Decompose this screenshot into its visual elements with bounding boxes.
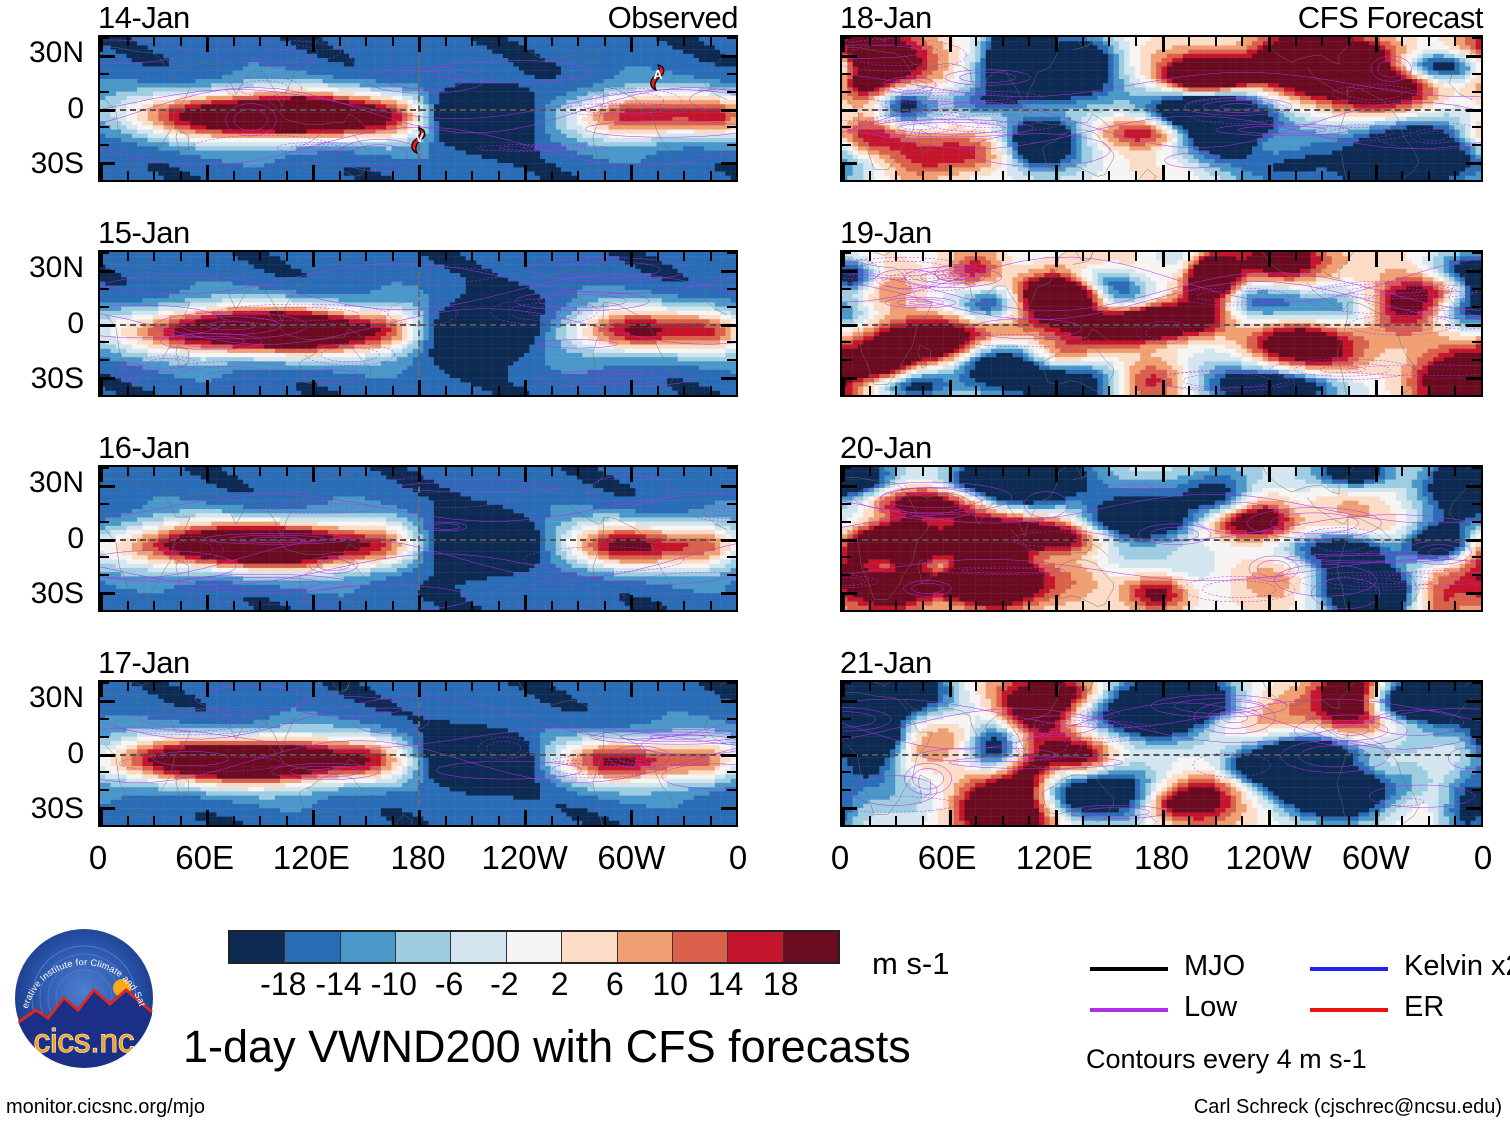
axis-tick — [1268, 595, 1271, 610]
axis-tick — [727, 556, 736, 558]
axis-tick — [604, 37, 606, 46]
colorbar-tick-label: 6 — [606, 968, 624, 1000]
axis-tick — [312, 810, 315, 825]
axis-tick — [1454, 601, 1456, 610]
axis-tick — [657, 252, 659, 261]
axis-tick — [922, 682, 924, 691]
axis-tick — [1401, 467, 1403, 476]
axis-tick — [1108, 682, 1110, 691]
map-canvas[interactable] — [840, 465, 1483, 612]
axis-tick — [524, 595, 527, 610]
axis-tick — [630, 810, 633, 825]
y-axis-label: 0 — [0, 739, 84, 769]
axis-tick — [1472, 288, 1481, 290]
axis-tick — [100, 126, 109, 128]
axis-tick — [1454, 37, 1456, 46]
x-axis-label: 0 — [729, 841, 747, 874]
axis-tick — [392, 37, 394, 46]
axis-tick — [1466, 109, 1481, 112]
x-axis-label: 0 — [831, 841, 849, 874]
equator-line — [842, 324, 1481, 326]
x-axis-label: 60W — [1342, 841, 1410, 874]
axis-tick — [1268, 165, 1271, 180]
axis-tick — [1472, 771, 1481, 773]
axis-tick — [1135, 682, 1137, 691]
axis-tick — [498, 601, 500, 610]
axis-tick — [1295, 386, 1297, 395]
axis-tick — [1401, 171, 1403, 180]
axis-tick — [1348, 601, 1350, 610]
axis-tick — [259, 252, 261, 261]
axis-tick — [339, 171, 341, 180]
axis-tick — [233, 816, 235, 825]
colorbar-swatch — [618, 932, 673, 962]
axis-tick — [1082, 252, 1084, 261]
axis-tick — [842, 341, 851, 343]
x-axis-label: 120E — [1016, 841, 1093, 874]
colorbar-tick-label: 2 — [551, 968, 569, 1000]
legend-note: Contours every 4 m s-1 — [1086, 1046, 1367, 1073]
colorbar-tick-label: -6 — [435, 968, 463, 1000]
axis-tick — [842, 700, 857, 703]
axis-tick — [1375, 37, 1378, 52]
axis-tick — [1241, 467, 1243, 476]
axis-tick — [1188, 601, 1190, 610]
axis-tick — [721, 700, 736, 703]
panel-date-label: 20-Jan — [840, 432, 932, 463]
axis-tick — [1321, 252, 1323, 261]
axis-tick — [1321, 171, 1323, 180]
colorbar-swatch — [673, 932, 728, 962]
axis-tick — [1321, 386, 1323, 395]
axis-tick — [418, 467, 421, 482]
axis-tick — [100, 556, 109, 558]
axis-tick — [727, 574, 736, 576]
axis-tick — [1472, 91, 1481, 93]
panel-observed-14-jan: 14-JanObservedAV — [98, 2, 738, 182]
map-canvas[interactable] — [98, 250, 738, 397]
axis-tick — [1268, 467, 1271, 482]
axis-tick — [100, 144, 109, 146]
axis-tick — [842, 736, 851, 738]
axis-tick — [1472, 736, 1481, 738]
axis-tick — [365, 682, 367, 691]
axis-tick — [736, 37, 738, 52]
axis-tick — [1472, 789, 1481, 791]
axis-tick — [869, 386, 871, 395]
y-axis-label: 30S — [0, 364, 84, 394]
axis-tick — [842, 180, 851, 182]
axis-tick — [153, 37, 155, 46]
axis-tick — [727, 73, 736, 75]
axis-tick — [727, 682, 736, 684]
axis-tick — [577, 601, 579, 610]
map-canvas[interactable] — [98, 465, 738, 612]
axis-tick — [1401, 37, 1403, 46]
axis-tick — [1028, 601, 1030, 610]
axis-tick — [975, 252, 977, 261]
axis-tick — [1466, 324, 1481, 327]
tropical-cyclone-marker[interactable]: V — [408, 126, 430, 156]
axis-tick — [1028, 252, 1030, 261]
axis-tick — [524, 467, 527, 482]
axis-tick — [727, 503, 736, 505]
map-canvas[interactable] — [840, 250, 1483, 397]
axis-tick — [604, 601, 606, 610]
axis-tick — [721, 109, 736, 112]
map-canvas[interactable] — [98, 680, 738, 827]
axis-tick — [100, 825, 109, 827]
axis-tick — [1321, 467, 1323, 476]
axis-tick — [498, 37, 500, 46]
y-axis-label: 30S — [0, 794, 84, 824]
axis-tick — [1188, 37, 1190, 46]
axis-tick — [445, 601, 447, 610]
colorbar-swatch — [562, 932, 617, 962]
map-canvas[interactable] — [840, 680, 1483, 827]
axis-tick — [100, 789, 109, 791]
axis-tick — [1466, 270, 1481, 273]
axis-tick — [1481, 165, 1483, 180]
axis-tick — [551, 682, 553, 691]
axis-tick — [286, 467, 288, 476]
axis-tick — [630, 165, 633, 180]
axis-tick — [1241, 816, 1243, 825]
axis-tick — [1466, 377, 1481, 380]
axis-tick — [1428, 37, 1430, 46]
axis-tick — [1472, 718, 1481, 720]
axis-tick — [1375, 467, 1378, 482]
axis-tick — [710, 386, 712, 395]
axis-tick — [1028, 171, 1030, 180]
axis-tick — [736, 165, 738, 180]
axis-tick — [975, 601, 977, 610]
axis-tick — [736, 380, 738, 395]
axis-tick — [1028, 37, 1030, 46]
axis-tick — [365, 467, 367, 476]
axis-tick — [392, 601, 394, 610]
axis-tick — [1135, 467, 1137, 476]
axis-tick — [498, 682, 500, 691]
axis-tick — [1215, 171, 1217, 180]
axis-tick — [100, 485, 115, 488]
axis-tick — [365, 171, 367, 180]
axis-tick — [206, 595, 209, 610]
axis-tick — [100, 162, 115, 165]
axis-tick — [180, 682, 182, 691]
axis-tick — [1002, 386, 1004, 395]
axis-tick — [604, 252, 606, 261]
axis-tick — [100, 91, 109, 93]
axis-tick — [233, 386, 235, 395]
axis-tick — [339, 37, 341, 46]
axis-tick — [392, 467, 394, 476]
axis-tick — [727, 37, 736, 39]
axis-tick — [471, 252, 473, 261]
axis-tick — [683, 601, 685, 610]
axis-tick — [445, 816, 447, 825]
x-axis-label: 120W — [482, 841, 568, 874]
axis-tick — [842, 37, 851, 39]
axis-tick — [312, 37, 315, 52]
axis-tick — [604, 816, 606, 825]
axis-tick — [1295, 467, 1297, 476]
axis-tick — [604, 682, 606, 691]
axis-tick — [100, 306, 109, 308]
axis-tick — [727, 736, 736, 738]
y-axis-label: 30S — [0, 149, 84, 179]
axis-tick — [392, 171, 394, 180]
axis-tick — [127, 171, 129, 180]
axis-tick — [1428, 386, 1430, 395]
axis-tick — [445, 171, 447, 180]
axis-tick — [100, 73, 109, 75]
axis-tick — [100, 270, 115, 273]
axis-tick — [180, 601, 182, 610]
axis-tick — [1401, 386, 1403, 395]
axis-tick — [1135, 37, 1137, 46]
axis-tick — [710, 682, 712, 691]
axis-tick — [657, 171, 659, 180]
axis-tick — [683, 467, 685, 476]
axis-tick — [1188, 467, 1190, 476]
axis-tick — [869, 37, 871, 46]
axis-tick — [1028, 816, 1030, 825]
axis-tick — [842, 306, 851, 308]
y-axis-label: 0 — [0, 94, 84, 124]
cics-nc-logo: Cooperative Institute for Climate and Sa… — [14, 928, 154, 1068]
colorbar-tick-label: 14 — [708, 968, 744, 1000]
axis-tick — [286, 386, 288, 395]
axis-tick — [869, 467, 871, 476]
axis-tick — [1466, 55, 1481, 58]
axis-tick — [842, 467, 851, 469]
axis-tick — [418, 37, 421, 52]
y-axis-label: 30N — [0, 683, 84, 713]
axis-tick — [683, 816, 685, 825]
axis-tick — [922, 386, 924, 395]
x-axis-label: 120E — [273, 841, 350, 874]
axis-tick — [949, 252, 952, 267]
axis-tick — [1321, 37, 1323, 46]
axis-tick — [233, 467, 235, 476]
axis-tick — [657, 816, 659, 825]
axis-tick — [1241, 37, 1243, 46]
axis-tick — [683, 252, 685, 261]
axis-tick — [100, 467, 109, 469]
axis-tick — [1188, 682, 1190, 691]
axis-tick — [100, 810, 103, 825]
axis-tick — [727, 126, 736, 128]
axis-tick — [710, 252, 712, 261]
axis-tick — [100, 467, 103, 482]
axis-tick — [392, 386, 394, 395]
axis-tick — [577, 816, 579, 825]
axis-tick — [630, 682, 633, 697]
axis-tick — [727, 359, 736, 361]
axis-tick — [1108, 386, 1110, 395]
axis-tick — [312, 252, 315, 267]
axis-tick — [842, 789, 851, 791]
axis-tick — [1295, 682, 1297, 691]
legend-swatch-low — [1090, 1008, 1168, 1012]
axis-tick — [100, 807, 115, 810]
axis-tick — [100, 682, 109, 684]
axis-tick — [1472, 341, 1481, 343]
axis-tick — [842, 574, 851, 576]
axis-tick — [153, 816, 155, 825]
footer-url[interactable]: monitor.cicsnc.org/mjo — [6, 1097, 205, 1117]
axis-tick — [180, 467, 182, 476]
axis-tick — [1241, 601, 1243, 610]
axis-tick — [842, 270, 857, 273]
axis-tick — [1162, 682, 1165, 697]
axis-tick — [339, 386, 341, 395]
y-axis-label: 30N — [0, 38, 84, 68]
colorbar-tick-label: -18 — [260, 968, 306, 1000]
axis-tick — [577, 252, 579, 261]
axis-tick — [949, 595, 952, 610]
axis-tick — [949, 165, 952, 180]
axis-tick — [1401, 816, 1403, 825]
axis-tick — [727, 395, 736, 397]
axis-tick — [392, 816, 394, 825]
axis-tick — [577, 171, 579, 180]
axis-tick — [1428, 252, 1430, 261]
legend-label: Kelvin x2 — [1404, 952, 1510, 981]
equator-line — [842, 539, 1481, 541]
axis-tick — [842, 556, 851, 558]
x-axis-label: 0 — [89, 841, 107, 874]
colorbar-swatch — [451, 932, 506, 962]
cyclone-label: A — [647, 68, 669, 81]
axis-tick — [524, 682, 527, 697]
axis-tick — [1454, 467, 1456, 476]
axis-tick — [727, 789, 736, 791]
axis-tick — [1348, 252, 1350, 261]
axis-tick — [727, 825, 736, 827]
axis-tick — [721, 377, 736, 380]
axis-tick — [1002, 467, 1004, 476]
map-canvas[interactable]: AV — [98, 35, 738, 182]
x-axis-label: 120W — [1226, 841, 1312, 874]
axis-tick — [1241, 682, 1243, 691]
map-canvas[interactable] — [840, 35, 1483, 182]
axis-tick — [418, 595, 421, 610]
axis-tick — [1215, 252, 1217, 261]
axis-tick — [339, 467, 341, 476]
axis-tick — [153, 467, 155, 476]
axis-tick — [1215, 386, 1217, 395]
logo-graphic: Cooperative Institute for Climate and Sa… — [14, 928, 154, 1068]
axis-tick — [127, 682, 129, 691]
axis-tick — [842, 109, 857, 112]
axis-tick — [1454, 252, 1456, 261]
axis-tick — [259, 601, 261, 610]
axis-tick — [392, 252, 394, 261]
axis-tick — [100, 539, 115, 542]
axis-tick — [1375, 595, 1378, 610]
axis-tick — [206, 252, 209, 267]
axis-tick — [895, 386, 897, 395]
axis-tick — [100, 252, 109, 254]
axis-tick — [604, 467, 606, 476]
axis-tick — [471, 171, 473, 180]
axis-tick — [524, 380, 527, 395]
column-header-forecast: CFS Forecast — [1298, 2, 1483, 33]
axis-tick — [842, 754, 857, 757]
axis-tick — [975, 171, 977, 180]
axis-tick — [869, 171, 871, 180]
axis-tick — [1428, 816, 1430, 825]
axis-tick — [1375, 165, 1378, 180]
axis-tick — [551, 37, 553, 46]
axis-tick — [1002, 171, 1004, 180]
tropical-cyclone-marker[interactable]: A — [647, 63, 669, 93]
axis-tick — [1472, 252, 1481, 254]
dateline-guide — [418, 682, 420, 825]
axis-tick — [842, 126, 851, 128]
axis-tick — [1295, 601, 1297, 610]
axis-tick — [975, 816, 977, 825]
axis-tick — [721, 592, 736, 595]
axis-tick — [842, 682, 851, 684]
colorbar-tick-label: 10 — [652, 968, 688, 1000]
column-header-observed: Observed — [608, 2, 738, 33]
footer-author[interactable]: Carl Schreck (cjschrec@ncsu.edu) — [1194, 1097, 1502, 1117]
axis-tick — [1348, 37, 1350, 46]
axis-tick — [286, 252, 288, 261]
axis-tick — [842, 37, 845, 52]
axis-tick — [100, 521, 109, 523]
axis-tick — [922, 37, 924, 46]
axis-tick — [842, 718, 851, 720]
axis-tick — [1481, 252, 1483, 267]
axis-tick — [842, 73, 851, 75]
colorbar-swatch — [728, 932, 783, 962]
axis-tick — [1082, 37, 1084, 46]
axis-tick — [721, 55, 736, 58]
axis-tick — [1082, 682, 1084, 691]
panel-forecast-21-jan: 21-Jan — [840, 647, 1483, 827]
axis-tick — [842, 467, 845, 482]
axis-tick — [100, 55, 115, 58]
axis-tick — [721, 485, 736, 488]
axis-tick — [153, 601, 155, 610]
axis-tick — [869, 816, 871, 825]
axis-tick — [1108, 171, 1110, 180]
axis-tick — [286, 171, 288, 180]
axis-tick — [1215, 37, 1217, 46]
axis-tick — [710, 467, 712, 476]
axis-tick — [1472, 180, 1481, 182]
axis-tick — [1002, 682, 1004, 691]
axis-tick — [100, 592, 115, 595]
axis-tick — [683, 682, 685, 691]
axis-tick — [895, 682, 897, 691]
axis-tick — [471, 816, 473, 825]
figure-title: 1-day VWND200 with CFS forecasts — [183, 1024, 911, 1069]
axis-tick — [392, 682, 394, 691]
axis-tick — [471, 467, 473, 476]
axis-tick — [1241, 171, 1243, 180]
axis-tick — [1295, 37, 1297, 46]
axis-tick — [1481, 37, 1483, 52]
axis-tick — [100, 771, 109, 773]
axis-tick — [100, 380, 103, 395]
axis-tick — [1454, 386, 1456, 395]
axis-tick — [1215, 601, 1217, 610]
